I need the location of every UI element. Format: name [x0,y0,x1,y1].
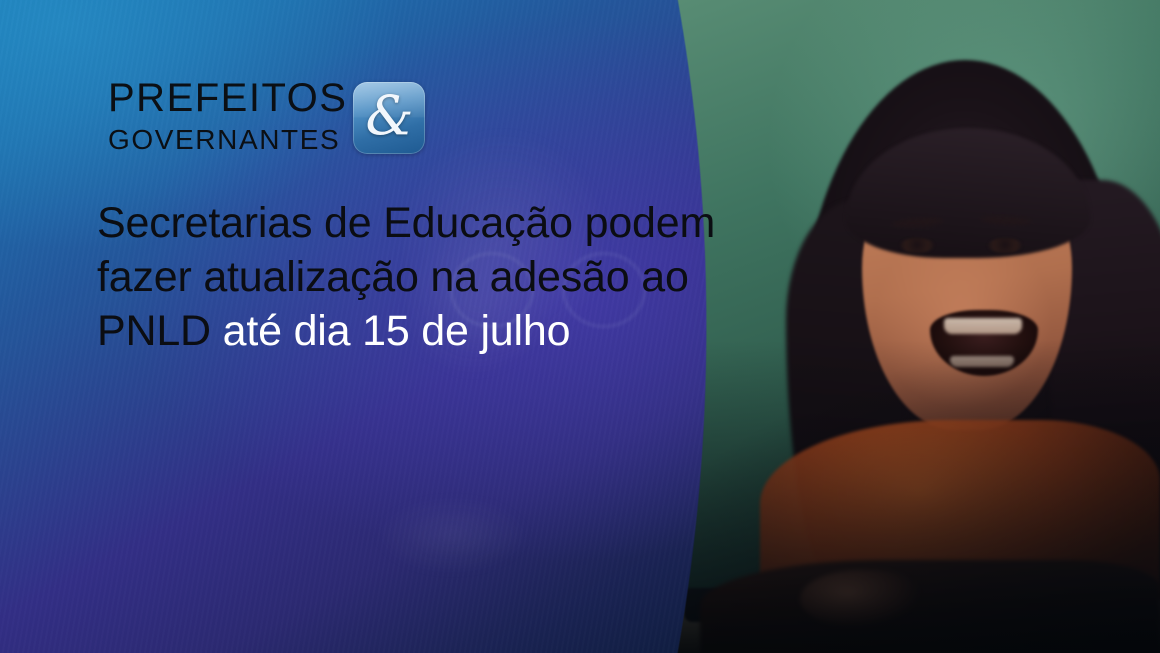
brand-logo-wordmark: PREFEITOS GOVERNANTES [108,78,347,154]
brand-logo-line2: GOVERNANTES [108,126,347,154]
brand-logo-line1: PREFEITOS [108,78,347,118]
child-teeth [944,318,1022,334]
child-eye [988,238,1022,253]
child-eye [900,238,934,253]
ghost-hands [360,480,580,600]
news-banner: ∫ ∑ 2π a∝b ) ( x⁺△√ ≡≡ αβγ E ≈⋮ B Ω√ [0,0,1160,653]
brand-logo[interactable]: PREFEITOS GOVERNANTES & [108,78,425,154]
ampersand-glyph: & [365,89,413,143]
headline: Secretarias de Educação podem fazer atua… [97,196,737,358]
child-hands [800,570,920,628]
headline-light-part: até dia 15 de julho [211,307,570,355]
child-teeth [950,356,1014,367]
ampersand-badge-icon: & [353,82,425,154]
